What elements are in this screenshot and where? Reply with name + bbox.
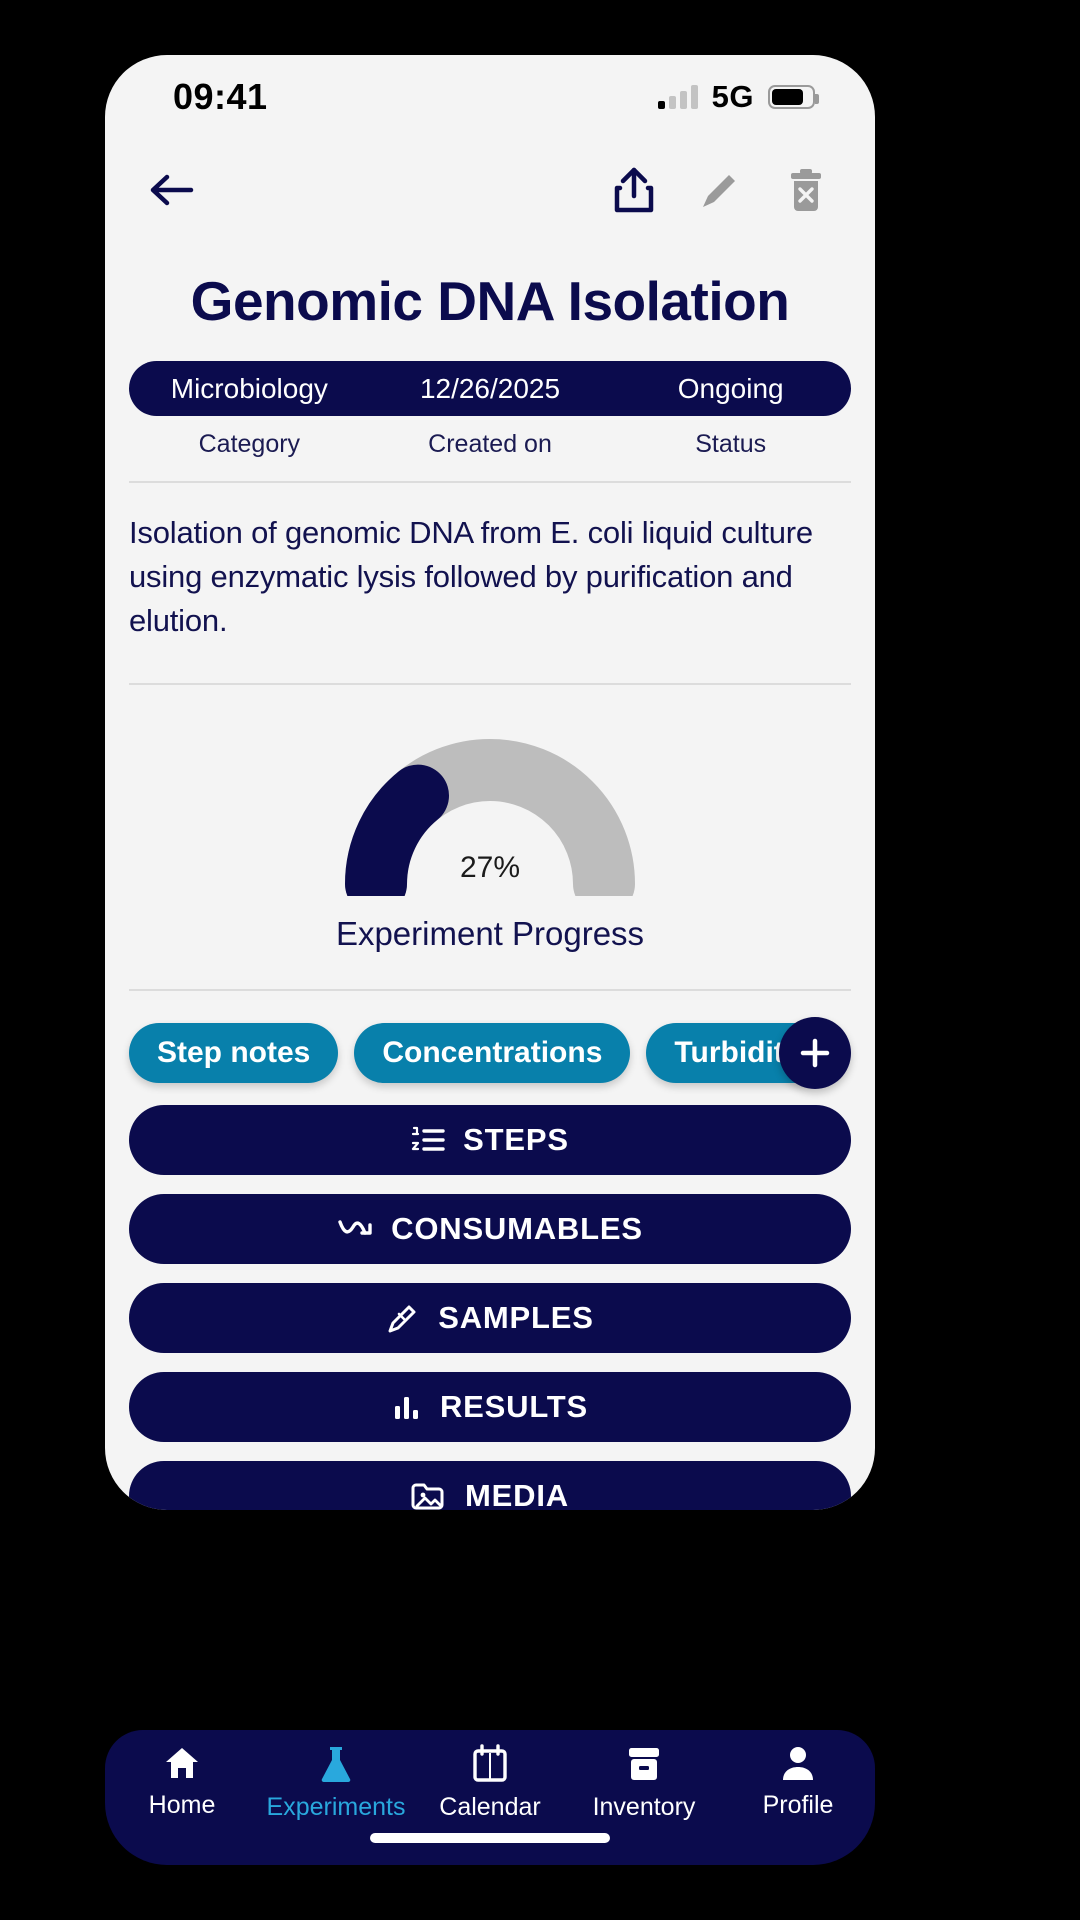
- trend-down-icon: [337, 1214, 373, 1244]
- divider-bottom: [129, 989, 851, 991]
- app-bar: [105, 139, 875, 241]
- ordered-list-icon: [411, 1123, 445, 1157]
- meta-value-created-on: 12/26/2025: [370, 373, 611, 405]
- add-chip-button[interactable]: [779, 1017, 851, 1089]
- experiment-meta-pill: Microbiology 12/26/2025 Ongoing: [129, 361, 851, 416]
- image-folder-icon: [411, 1480, 447, 1510]
- experiment-description: Isolation of genomic DNA from E. coli li…: [129, 511, 851, 643]
- chip-label: Step notes: [157, 1036, 310, 1070]
- status-bar: 09:41 5G: [105, 55, 875, 139]
- section-label: SAMPLES: [438, 1300, 593, 1336]
- app-bar-actions: [603, 159, 837, 221]
- section-button-list: STEPS CONSUMABLES SAMPLES: [129, 1105, 851, 1510]
- share-icon[interactable]: [603, 159, 665, 221]
- chip-step-notes[interactable]: Step notes: [129, 1023, 338, 1083]
- progress-value: 27%: [340, 851, 640, 885]
- calendar-icon: [471, 1744, 509, 1784]
- network-type-label: 5G: [712, 79, 754, 115]
- progress-label: Experiment Progress: [105, 915, 875, 953]
- plus-icon: [798, 1036, 832, 1070]
- meta-label-status: Status: [610, 430, 851, 459]
- status-time: 09:41: [173, 76, 268, 118]
- nav-item-profile[interactable]: Profile: [721, 1744, 875, 1820]
- section-label: MEDIA: [465, 1478, 569, 1510]
- chip-concentrations[interactable]: Concentrations: [354, 1023, 630, 1083]
- flask-icon: [316, 1744, 356, 1784]
- section-button-media[interactable]: MEDIA: [129, 1461, 851, 1510]
- section-label: CONSUMABLES: [391, 1211, 643, 1247]
- divider-top: [129, 481, 851, 483]
- section-label: STEPS: [463, 1122, 569, 1158]
- home-indicator: [370, 1833, 610, 1843]
- progress-gauge-section: 27% Experiment Progress: [105, 721, 875, 953]
- bar-chart-icon: [392, 1392, 422, 1422]
- signal-bars-icon: [658, 85, 698, 109]
- screenshot-stage: 09:41 5G: [0, 0, 1080, 1920]
- nav-item-home[interactable]: Home: [105, 1744, 259, 1820]
- nav-label: Profile: [763, 1791, 834, 1820]
- nav-label: Home: [149, 1791, 216, 1820]
- back-arrow-icon[interactable]: [141, 159, 203, 221]
- edit-pencil-icon[interactable]: [689, 159, 751, 221]
- experiment-meta-labels: Category Created on Status: [129, 430, 851, 459]
- progress-gauge: 27%: [340, 721, 640, 891]
- box-icon: [625, 1744, 663, 1784]
- meta-label-category: Category: [129, 430, 370, 459]
- meta-label-created-on: Created on: [370, 430, 611, 459]
- nav-label: Inventory: [593, 1793, 696, 1822]
- section-button-consumables[interactable]: CONSUMABLES: [129, 1194, 851, 1264]
- bottom-navigation-bar: Home Experiments Calendar Inventory: [105, 1730, 875, 1865]
- section-button-samples[interactable]: SAMPLES: [129, 1283, 851, 1353]
- delete-trash-icon[interactable]: [775, 159, 837, 221]
- nav-label: Experiments: [267, 1793, 406, 1822]
- phone-screen: 09:41 5G: [105, 55, 875, 1510]
- divider-middle: [129, 683, 851, 685]
- pencil-ruler-icon: [386, 1301, 420, 1335]
- meta-value-category: Microbiology: [129, 373, 370, 405]
- person-icon: [779, 1744, 817, 1782]
- page-title: Genomic DNA Isolation: [105, 269, 875, 333]
- section-button-steps[interactable]: STEPS: [129, 1105, 851, 1175]
- nav-item-inventory[interactable]: Inventory: [567, 1744, 721, 1822]
- home-icon: [162, 1744, 202, 1782]
- status-indicators: 5G: [658, 79, 815, 115]
- experiment-detail-content: Genomic DNA Isolation Microbiology 12/26…: [105, 241, 875, 1510]
- tag-chip-row: Step notes Concentrations Turbidity: [129, 1023, 851, 1083]
- chip-label: Concentrations: [382, 1036, 602, 1070]
- battery-icon: [768, 85, 815, 109]
- nav-label: Calendar: [439, 1793, 540, 1822]
- nav-item-calendar[interactable]: Calendar: [413, 1744, 567, 1822]
- nav-item-experiments[interactable]: Experiments: [259, 1744, 413, 1822]
- meta-value-status: Ongoing: [610, 373, 851, 405]
- section-label: RESULTS: [440, 1389, 588, 1425]
- section-button-results[interactable]: RESULTS: [129, 1372, 851, 1442]
